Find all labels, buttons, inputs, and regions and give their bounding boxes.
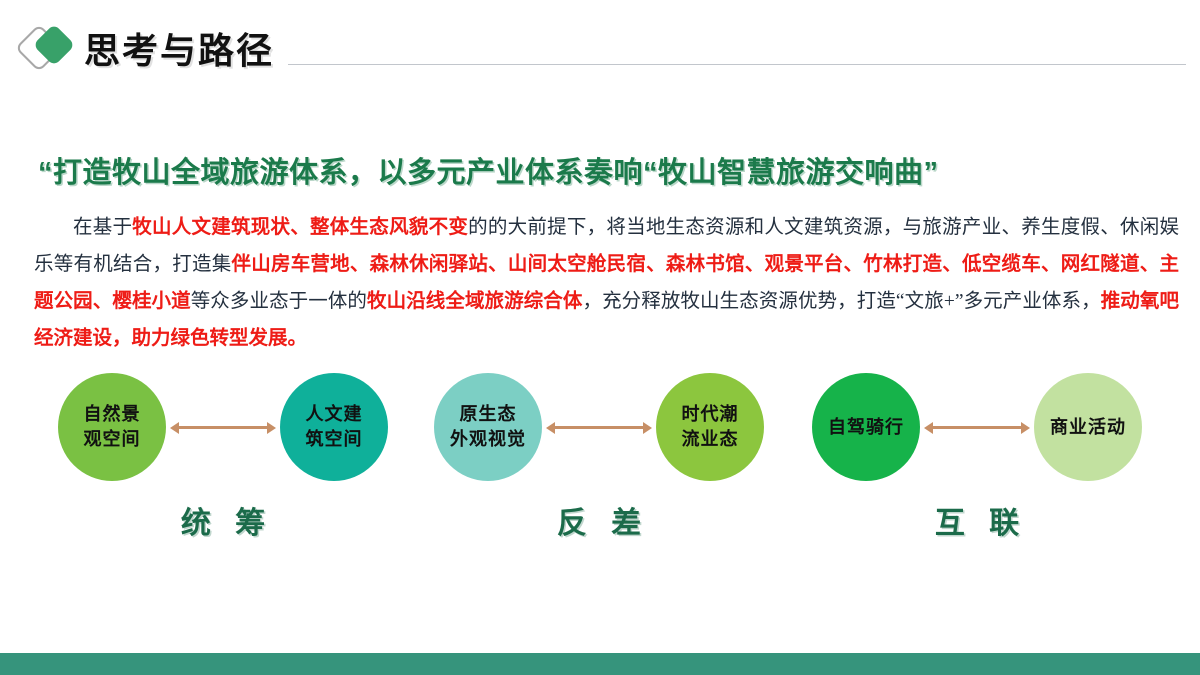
arrow-head-right xyxy=(267,422,276,434)
concept-circle-left[interactable]: 自驾骑行 xyxy=(812,373,920,481)
main-heading: “打造牧山全域旅游体系，以多元产业体系奏响“牧山智慧旅游交响曲” xyxy=(38,149,1038,191)
circle-pair: 自驾骑行 商业活动 xyxy=(812,372,1142,482)
double-arrow-icon xyxy=(170,420,276,434)
body-text-highlight: 牧山人文建筑现状、整体生态风貌不变 xyxy=(132,217,468,238)
double-arrow-icon xyxy=(924,420,1030,434)
arrow-shaft xyxy=(554,426,644,429)
concept-circle-right[interactable]: 时代潮流业态 xyxy=(656,373,764,481)
arrow-head-right xyxy=(1021,422,1030,434)
concept-circle-right[interactable]: 商业活动 xyxy=(1034,373,1142,481)
double-arrow-icon xyxy=(546,420,652,434)
body-text-run: 在基于 xyxy=(73,217,132,238)
arrow-shaft xyxy=(932,426,1022,429)
header-divider xyxy=(288,64,1186,65)
circle-pair: 自然景观空间 人文建筑空间 xyxy=(58,372,388,482)
footer-bar xyxy=(0,653,1200,675)
concept-circle-left[interactable]: 自然景观空间 xyxy=(58,373,166,481)
arrow-head-right xyxy=(643,422,652,434)
diagram-group-2: 自驾骑行 商业活动 互 联 xyxy=(812,372,1142,552)
body-text-run: 等众多业态于一体的 xyxy=(191,291,367,312)
diagram-group-label: 互 联 xyxy=(812,498,1142,542)
diagram-group-label: 统 筹 xyxy=(58,498,388,542)
body-text-highlight: 牧山沿线全域旅游综合体 xyxy=(367,291,582,312)
arrow-shaft xyxy=(178,426,268,429)
circle-pair: 原生态外观视觉 时代潮流业态 xyxy=(434,372,764,482)
concept-diagram-row: 自然景观空间 人文建筑空间 统 筹 原生态外观视觉 时代潮流业态 反 差 自驾骑… xyxy=(0,372,1200,552)
concept-circle-left[interactable]: 原生态外观视觉 xyxy=(434,373,542,481)
body-text-run: ，充分释放牧山生态资源优势，打造“文旅+”多元产业体系， xyxy=(583,291,1101,312)
diagram-group-label: 反 差 xyxy=(434,498,764,542)
concept-circle-right[interactable]: 人文建筑空间 xyxy=(280,373,388,481)
diagram-group-0: 自然景观空间 人文建筑空间 统 筹 xyxy=(58,372,388,552)
page-title: 思考与路径 xyxy=(84,22,274,74)
diagram-group-1: 原生态外观视觉 时代潮流业态 反 差 xyxy=(434,372,764,552)
double-diamond-logo-icon xyxy=(20,24,84,68)
slide-header: 思考与路径 xyxy=(0,0,1200,90)
body-paragraph: 在基于牧山人文建筑现状、整体生态风貌不变的的大前提下，将当地生态资源和人文建筑资… xyxy=(34,209,1179,357)
